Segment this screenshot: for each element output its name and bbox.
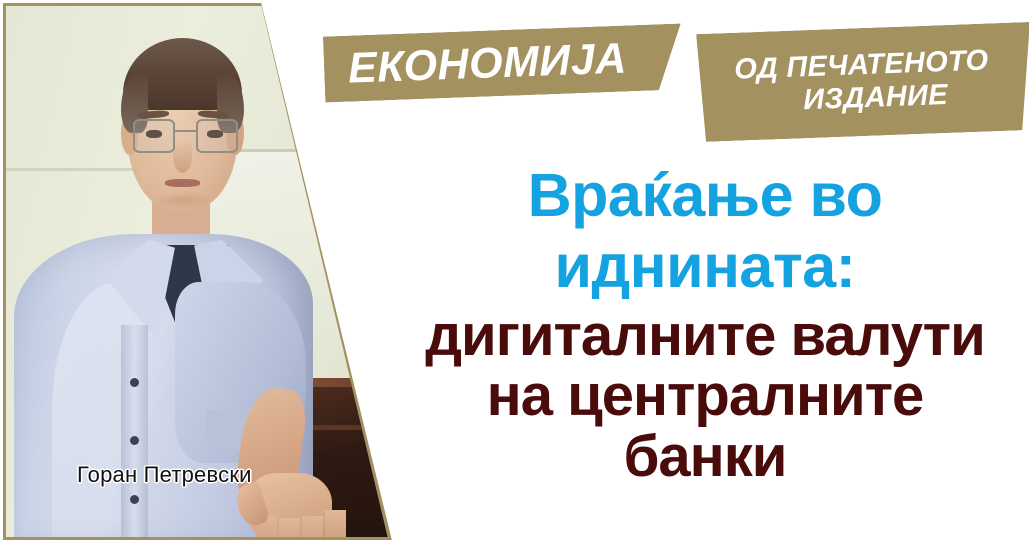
eyeglasses-lens-left [133, 119, 175, 153]
person-mouth [165, 179, 200, 186]
person-shirt-placket [121, 325, 148, 537]
person-finger [325, 510, 346, 537]
source-badge-line-2: ИЗДАНИЕ [803, 79, 949, 117]
headline-line-4: на централните [392, 366, 1018, 427]
headline-line-3: дигиталните валути [392, 306, 1018, 367]
eyeglasses-bridge [175, 130, 196, 132]
headline-line-1: Враќање во [392, 160, 1018, 231]
person-finger [279, 518, 300, 537]
person-shirt-highlight [52, 282, 183, 537]
eyeglasses-lens-right [196, 119, 238, 153]
source-badge-print-edition[interactable]: ОД ПЕЧАТЕНОТО ИЗДАНИЕ [696, 22, 1029, 142]
photo-caption: Горан Петревски [77, 462, 252, 488]
person-finger [302, 516, 323, 537]
person-shirt-button [130, 378, 139, 387]
person-shirt-button [130, 495, 139, 504]
category-badge-economy[interactable]: ЕКОНОМИЈА [323, 23, 683, 102]
category-badge-label: ЕКОНОМИЈА [323, 37, 627, 91]
article-headline[interactable]: Враќање во иднината: дигиталните валути … [392, 160, 1018, 488]
headline-line-2: иднината: [392, 231, 1018, 302]
article-banner: Горан Петревски ЕКОНОМИЈА ОД ПЕЧАТЕНОТО … [0, 0, 1029, 543]
headline-line-5: банки [392, 427, 1018, 488]
person-chin-shadow [152, 192, 213, 208]
source-badge-line-1: ОД ПЕЧАТЕНОТО [734, 45, 989, 87]
person-shirt-button [130, 436, 139, 445]
